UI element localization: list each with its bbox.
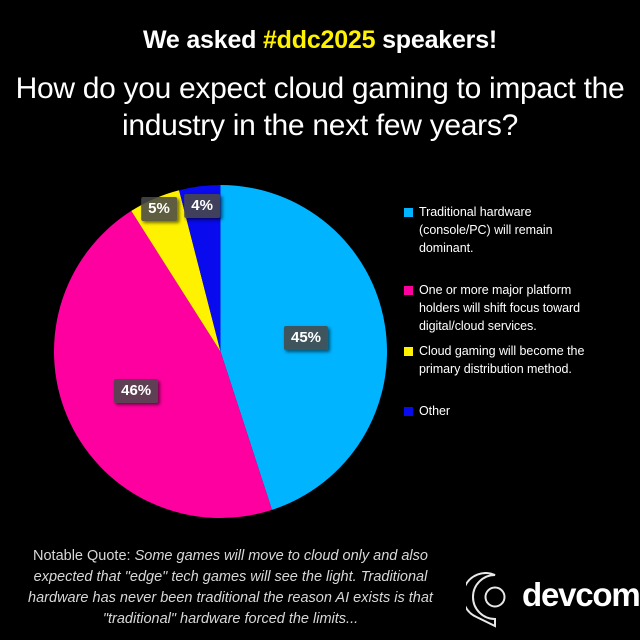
kicker-suffix: speakers!	[375, 26, 497, 54]
pie-label-1: 46%	[114, 379, 158, 403]
pie-label-2: 5%	[141, 197, 177, 221]
legend-label-0: Traditional hardware (console/PC) will r…	[419, 203, 604, 257]
legend-item-other[interactable]: Other	[404, 402, 604, 420]
devcom-logo[interactable]: devcom	[466, 572, 626, 630]
legend-label-3: Other	[419, 402, 604, 420]
kicker-hashtag: #ddc2025	[263, 26, 375, 54]
legend-swatch-icon-0	[404, 208, 413, 217]
legend-label-2: Cloud gaming will become the primary dis…	[419, 342, 604, 378]
legend-item-platform-holders[interactable]: One or more major platform holders will …	[404, 281, 604, 335]
legend-item-cloud-gaming[interactable]: Cloud gaming will become the primary dis…	[404, 342, 604, 378]
notable-quote-label: Notable Quote:	[33, 548, 135, 564]
pie-label-3: 4%	[184, 194, 220, 218]
pie-chart-slices	[54, 185, 387, 518]
notable-quote: Notable Quote: Some games will move to c…	[18, 546, 443, 630]
kicker-headline: We asked #ddc2025 speakers!	[0, 26, 640, 55]
devcom-wordmark: devcom	[522, 578, 640, 611]
pie-label-0: 45%	[284, 326, 328, 350]
infographic-canvas: We asked #ddc2025 speakers! How do you e…	[0, 0, 640, 640]
legend-swatch-icon-2	[404, 347, 413, 356]
chart-legend: Traditional hardware (console/PC) will r…	[404, 203, 604, 420]
pie-chart: 45% 46% 5% 4%	[54, 185, 387, 518]
legend-swatch-icon-1	[404, 286, 413, 295]
devcom-mark-icon	[466, 572, 526, 630]
legend-swatch-icon-3	[404, 407, 413, 416]
page-title: How do you expect cloud gaming to impact…	[10, 70, 630, 144]
legend-item-traditional-hardware[interactable]: Traditional hardware (console/PC) will r…	[404, 203, 604, 257]
kicker-prefix: We asked	[143, 26, 263, 54]
legend-label-1: One or more major platform holders will …	[419, 281, 604, 335]
